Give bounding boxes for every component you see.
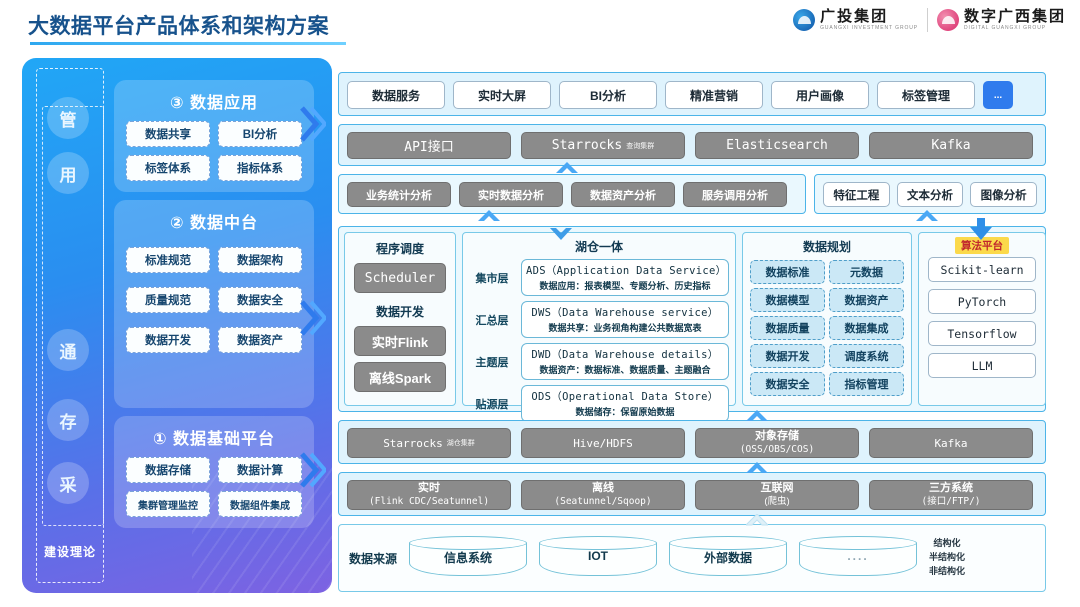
down-arrow-icon [550, 224, 572, 240]
chip-data-architecture[interactable]: 数据架构 [218, 247, 302, 273]
application-layer-band: 数据服务 实时大屏 BI分析 精准营销 用户画像 标签管理 ... [338, 72, 1046, 116]
data-dev-title: 数据开发 [345, 303, 455, 320]
ai-image-analysis[interactable]: 图像分析 [970, 182, 1037, 207]
layer-name: ODS（Operational Data Store） [526, 389, 724, 404]
cylinder-label: IOT [539, 549, 657, 563]
left-maturity-panel: 管 用 通 存 采 建设理论 ③ 数据应用 数据共享 BI分析 标签体系 指标体… [22, 58, 332, 593]
ingestion-layer-band: 实时 (Flink CDC/Seatunnel) 离线 (Seatunnel/S… [338, 472, 1046, 516]
structure-unstructured: 非结构化 [929, 565, 965, 579]
layer-tag: 贴源层 [469, 396, 515, 412]
algorithm-platform-panel: 算法平台 Scikit-learn PyTorch Tensorflow LLM [918, 232, 1046, 406]
logo-group: 广投集团 GUANGXI INVESTMENT GROUP 数字广西集团 DIG… [793, 8, 1066, 32]
digital-guangxi-logo-icon [937, 9, 959, 31]
lakehouse-layers: 集市层 ADS（Application Data Service） 数据应用：报… [463, 259, 735, 422]
service-elasticsearch[interactable]: Elasticsearch [695, 132, 859, 159]
plan-metadata[interactable]: 元数据 [829, 260, 904, 284]
up-arrow-icon [746, 514, 768, 528]
structure-semi-structured: 半结构化 [929, 551, 965, 565]
lakehouse-panel: 湖仓一体 集市层 ADS（Application Data Service） 数… [462, 232, 736, 406]
layer-desc: 数据资产：数据标准、数据质量、主题融合 [526, 363, 724, 376]
analysis-realtime-data[interactable]: 实时数据分析 [459, 182, 563, 207]
group-title: ③ 数据应用 [114, 80, 314, 113]
service-starrocks-sub: 查询集群 [626, 141, 654, 151]
data-planning-panel: 数据规划 数据标准 元数据 数据模型 数据资产 数据质量 数据集成 数据开发 调… [742, 232, 912, 406]
chip-indicator-system[interactable]: 指标体系 [218, 155, 302, 181]
chip-standard-spec[interactable]: 标准规范 [126, 247, 210, 273]
planning-title: 数据规划 [743, 238, 911, 255]
service-api-gateway[interactable]: API接口 [347, 132, 511, 159]
algorithm-list: Scikit-learn PyTorch Tensorflow LLM [919, 233, 1045, 378]
chip-data-development[interactable]: 数据开发 [126, 327, 210, 353]
algo-scikit-learn[interactable]: Scikit-learn [928, 257, 1036, 282]
logo-guangxi-investment: 广投集团 GUANGXI INVESTMENT GROUP [793, 9, 918, 31]
layer-desc: 数据储存：保留原始数据 [526, 405, 724, 418]
ingest-internet[interactable]: 互联网 (爬虫) [695, 480, 859, 510]
storage-layer-band: Starrocks湖仓集群 Hive/HDFS 对象存储 (OSS/OBS/CO… [338, 420, 1046, 464]
algo-llm[interactable]: LLM [928, 353, 1036, 378]
group-data-infrastructure[interactable]: ① 数据基础平台 数据存储 数据计算 集群管理监控 数据组件集成 [114, 416, 314, 528]
analysis-layer-band: 业务统计分析 实时数据分析 数据资产分析 服务调用分析 [338, 174, 806, 214]
architecture-stack: 数据服务 实时大屏 BI分析 精准营销 用户画像 标签管理 ... API接口 … [338, 58, 1056, 593]
ingest-thirdparty-sub: (接口/FTP/) [921, 496, 980, 508]
plan-data-security[interactable]: 数据安全 [750, 372, 825, 396]
chevron-right-icon [300, 450, 326, 490]
chip-data-share[interactable]: 数据共享 [126, 121, 210, 147]
ingest-thirdparty[interactable]: 三方系统 (接口/FTP/) [869, 480, 1033, 510]
group-label: 数据应用 [190, 95, 258, 112]
scheduler-title: 程序调度 [345, 240, 455, 257]
group-index: ③ [170, 95, 185, 112]
algo-pytorch[interactable]: PyTorch [928, 289, 1036, 314]
ingest-realtime[interactable]: 实时 (Flink CDC/Seatunnel) [347, 480, 511, 510]
ai-text-analysis[interactable]: 文本分析 [897, 182, 964, 207]
logo-en-text: DIGITAL GUANGXI GROUP [964, 25, 1066, 31]
down-arrow-icon [970, 218, 992, 240]
sidebar-item-cun[interactable]: 存 [47, 399, 89, 441]
plan-indicator-management[interactable]: 指标管理 [829, 372, 904, 396]
algo-tensorflow[interactable]: Tensorflow [928, 321, 1036, 346]
layer-desc: 数据共享：业务视角构建公共数据宽表 [526, 321, 724, 334]
lakehouse-layer-ods[interactable]: 贴源层 ODS（Operational Data Store） 数据储存：保留原… [469, 385, 729, 422]
chip-quality-spec[interactable]: 质量规范 [126, 287, 210, 313]
layer-name: ADS（Application Data Service） [526, 263, 724, 278]
app-tag-management[interactable]: 标签管理 [877, 81, 975, 109]
ingest-offline-sub: (Seatunnel/Sqoop) [554, 496, 651, 508]
chip-tag-system[interactable]: 标签体系 [126, 155, 210, 181]
storage-hive-hdfs[interactable]: Hive/HDFS [521, 428, 685, 458]
layer-tag: 集市层 [469, 270, 515, 286]
plan-data-quality[interactable]: 数据质量 [750, 316, 825, 340]
scheduler-column: 程序调度 Scheduler 数据开发 实时Flink 离线Spark [344, 232, 456, 406]
page-title: 大数据平台产品体系和架构方案 [28, 10, 329, 40]
storage-kafka[interactable]: Kafka [869, 428, 1033, 458]
plan-data-model[interactable]: 数据模型 [750, 288, 825, 312]
logo-cn-text: 数字广西集团 [964, 9, 1066, 25]
group-data-midplatform[interactable]: ② 数据中台 标准规范 数据架构 质量规范 数据安全 数据开发 数据资产 [114, 200, 314, 408]
layer-name: DWS（Data Warehouse service） [526, 305, 724, 320]
app-data-service[interactable]: 数据服务 [347, 81, 445, 109]
plan-scheduling-system[interactable]: 调度系统 [829, 344, 904, 368]
layer-tag: 汇总层 [469, 312, 515, 328]
source-cylinder-more[interactable]: .... [799, 536, 917, 580]
app-bi-analysis[interactable]: BI分析 [559, 81, 657, 109]
planning-grid: 数据标准 元数据 数据模型 数据资产 数据质量 数据集成 数据开发 调度系统 数… [743, 260, 911, 396]
group-title: ① 数据基础平台 [114, 416, 314, 449]
chevron-right-icon [300, 298, 326, 338]
source-cylinder-external-data[interactable]: 外部数据 [669, 536, 787, 580]
up-arrow-icon [916, 210, 938, 224]
source-row-label: 数据来源 [349, 550, 397, 567]
storage-object-storage[interactable]: 对象存储 (OSS/OBS/COS) [695, 428, 859, 458]
layer-desc: 数据应用：报表模型、专题分析、历史指标 [526, 279, 724, 292]
chip-data-compute[interactable]: 数据计算 [218, 457, 302, 483]
up-arrow-icon [746, 462, 768, 476]
swoosh-logo-icon [793, 9, 815, 31]
ingest-internet-sub: (爬虫) [764, 496, 789, 508]
logo-en-text: GUANGXI INVESTMENT GROUP [820, 25, 918, 31]
lakehouse-layer-dwd[interactable]: 主题层 DWD（Data Warehouse details） 数据资产：数据标… [469, 343, 729, 380]
cylinder-label: .... [799, 549, 917, 563]
source-cylinder-info-system[interactable]: 信息系统 [409, 536, 527, 580]
chip-data-storage[interactable]: 数据存储 [126, 457, 210, 483]
source-structure-legend: 结构化 半结构化 非结构化 [929, 537, 965, 579]
chip-component-integration[interactable]: 数据组件集成 [218, 491, 302, 517]
plan-data-integration[interactable]: 数据集成 [829, 316, 904, 340]
lakehouse-title: 湖仓一体 [463, 238, 735, 255]
chip-data-asset[interactable]: 数据资产 [218, 327, 302, 353]
chip-data-security[interactable]: 数据安全 [218, 287, 302, 313]
app-realtime-screen[interactable]: 实时大屏 [453, 81, 551, 109]
service-kafka[interactable]: Kafka [869, 132, 1033, 159]
logo-digital-guangxi: 数字广西集团 DIGITAL GUANGXI GROUP [937, 9, 1066, 31]
dev-item-spark[interactable]: 离线Spark [354, 362, 446, 392]
plan-data-standard[interactable]: 数据标准 [750, 260, 825, 284]
group-chip-grid: 标准规范 数据架构 质量规范 数据安全 数据开发 数据资产 [114, 233, 314, 365]
analysis-service-call[interactable]: 服务调用分析 [683, 182, 787, 207]
storage-object-sub: (OSS/OBS/COS) [740, 444, 814, 456]
app-user-profile[interactable]: 用户画像 [771, 81, 869, 109]
title-underline [30, 42, 346, 45]
ai-analysis-band: 特征工程 文本分析 图像分析 [814, 174, 1046, 214]
sidebar-item-yong[interactable]: 用 [47, 152, 89, 194]
sidebar-item-cai[interactable]: 采 [47, 462, 89, 504]
analysis-data-asset[interactable]: 数据资产分析 [571, 182, 675, 207]
ai-feature-engineering[interactable]: 特征工程 [823, 182, 890, 207]
lakehouse-layer-ads[interactable]: 集市层 ADS（Application Data Service） 数据应用：报… [469, 259, 729, 296]
sidebar-item-guan[interactable]: 管 [47, 97, 89, 139]
group-index: ② [170, 215, 185, 232]
sidebar-footer-label: 建设理论 [39, 543, 101, 560]
up-arrow-icon [746, 410, 768, 424]
group-chip-grid: 数据共享 BI分析 标签体系 指标体系 [114, 113, 314, 193]
structure-structured: 结构化 [929, 537, 965, 551]
group-data-application[interactable]: ③ 数据应用 数据共享 BI分析 标签体系 指标体系 [114, 80, 314, 192]
dev-item-flink[interactable]: 实时Flink [354, 326, 446, 356]
page-header: 大数据平台产品体系和架构方案 广投集团 GUANGXI INVESTMENT G… [0, 0, 1080, 52]
app-more-button[interactable]: ... [983, 81, 1013, 109]
group-label: 数据中台 [190, 215, 258, 232]
group-title: ② 数据中台 [114, 200, 314, 233]
cylinder-label: 信息系统 [409, 549, 527, 566]
logo-divider [927, 8, 928, 32]
up-arrow-icon [478, 210, 500, 224]
scheduler-item[interactable]: Scheduler [354, 263, 446, 293]
cylinder-label: 外部数据 [669, 549, 787, 566]
service-starrocks[interactable]: Starrocks查询集群 [521, 132, 685, 159]
source-layer-band: 数据来源 信息系统 IOT 外部数据 .... 结构化 半结构化 非结构化 [338, 524, 1046, 592]
layer-tag: 主题层 [469, 354, 515, 370]
plan-data-asset[interactable]: 数据资产 [829, 288, 904, 312]
chip-cluster-monitoring[interactable]: 集群管理监控 [126, 491, 210, 517]
sidebar-item-tong[interactable]: 通 [47, 329, 89, 371]
analysis-business-stat[interactable]: 业务统计分析 [347, 182, 451, 207]
storage-starrocks-sub: 湖仓集群 [447, 438, 475, 448]
storage-starrocks[interactable]: Starrocks湖仓集群 [347, 428, 511, 458]
group-label: 数据基础平台 [173, 431, 275, 448]
app-precision-marketing[interactable]: 精准营销 [665, 81, 763, 109]
ingest-offline[interactable]: 离线 (Seatunnel/Sqoop) [521, 480, 685, 510]
plan-data-development[interactable]: 数据开发 [750, 344, 825, 368]
layer-name: DWD（Data Warehouse details） [526, 347, 724, 362]
chevron-right-icon [300, 104, 326, 144]
group-index: ① [153, 431, 168, 448]
ingest-realtime-sub: (Flink CDC/Seatunnel) [369, 496, 489, 508]
logo-cn-text: 广投集团 [820, 9, 918, 25]
service-layer-band: API接口 Starrocks查询集群 Elasticsearch Kafka [338, 124, 1046, 166]
chip-bi-analysis[interactable]: BI分析 [218, 121, 302, 147]
group-chip-grid: 数据存储 数据计算 集群管理监控 数据组件集成 [114, 449, 314, 529]
source-cylinder-iot[interactable]: IOT [539, 536, 657, 580]
lakehouse-layer-dws[interactable]: 汇总层 DWS（Data Warehouse service） 数据共享：业务视… [469, 301, 729, 338]
